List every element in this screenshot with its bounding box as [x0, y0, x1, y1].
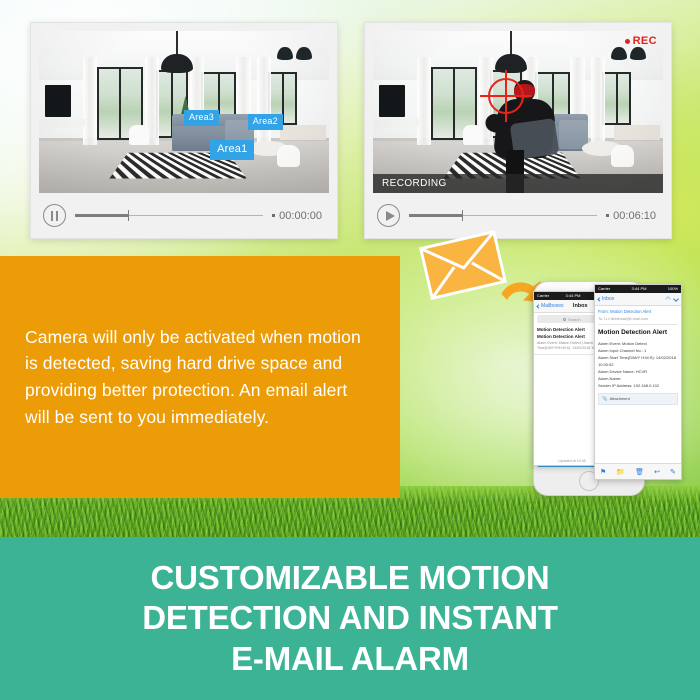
pause-button[interactable]	[43, 204, 66, 227]
recording-status-bar: RECORDING	[373, 174, 663, 193]
alarm-detail-line: Alarm Device Name: HCVR	[598, 368, 678, 375]
seek-bar-live[interactable]	[75, 210, 263, 222]
flag-icon[interactable]: ⚑	[600, 468, 606, 476]
alarm-detail-line: Alarm Event: Motion Detect	[598, 340, 678, 347]
search-icon	[563, 318, 566, 321]
back-to-mailboxes-button[interactable]: Mailboxes	[537, 303, 564, 309]
target-crosshair-icon	[480, 70, 532, 122]
message-to: To: i-i-f-fieldemail@t-mail.com	[598, 316, 678, 322]
page-title: CUSTOMIZABLE MOTION DETECTION AND INSTAN…	[142, 558, 558, 679]
message-from: From: Motion Detection Alert	[598, 309, 678, 316]
chevron-left-icon	[536, 304, 540, 308]
status-carrier: Carrier	[598, 287, 610, 291]
alarm-detail-line: Alarm Input Channel No.: 1	[598, 347, 678, 354]
attachment-row[interactable]: 📎 Attachment	[598, 393, 678, 405]
stop-dot-icon	[606, 214, 609, 217]
search-placeholder: Search	[568, 317, 581, 322]
infographic-stage: Area3 Area2 Area1 00:00:00	[0, 0, 700, 700]
pause-icon	[51, 211, 59, 221]
back-label: Mailboxes	[541, 303, 564, 309]
alarm-detail-line: Sender IP Address: 192.168.0.102	[598, 382, 678, 389]
rec-label: REC	[633, 35, 657, 47]
message-toolbar: ⚑ 📁 🗑 ↩ ✎	[595, 463, 681, 479]
chevron-down-icon[interactable]	[673, 296, 679, 302]
back-to-inbox-button[interactable]: Inbox	[598, 296, 614, 302]
headline-line: E-MAIL ALARM	[142, 639, 558, 679]
play-icon	[386, 211, 395, 221]
attachment-label: Attachment	[610, 396, 630, 401]
compose-icon[interactable]: ✎	[670, 468, 676, 476]
status-carrier: Carrier	[537, 294, 549, 298]
video-player-live-preview[interactable]: Area3 Area2 Area1 00:00:00	[30, 22, 338, 239]
alarm-detail-line: Alarm Name:	[598, 375, 678, 382]
seek-bar-recording[interactable]	[409, 210, 597, 222]
detail-navbar: Inbox	[595, 293, 681, 306]
rec-indicator: REC	[625, 35, 657, 47]
status-time: 3:44 PM	[632, 287, 647, 291]
player-controls-live: 00:00:00	[39, 193, 329, 238]
video-screen-live: Area3 Area2 Area1	[39, 31, 329, 193]
timestamp-value: 00:00:00	[279, 210, 322, 222]
play-button[interactable]	[377, 204, 400, 227]
status-time: 3:44 PM	[566, 294, 581, 298]
back-label: Inbox	[602, 296, 614, 302]
headline-banner: CUSTOMIZABLE MOTION DETECTION AND INSTAN…	[0, 537, 700, 700]
timestamp-live: 00:00:00	[272, 210, 325, 222]
trash-icon[interactable]: 🗑	[635, 468, 644, 476]
player-controls-recording: 00:06:10	[373, 193, 663, 238]
timestamp-value: 00:06:10	[613, 210, 656, 222]
divider	[598, 324, 678, 325]
stop-dot-icon	[272, 214, 275, 217]
video-screen-recording: REC RECORDING	[373, 31, 663, 193]
inbox-title: Inbox	[573, 303, 588, 309]
chevron-up-icon[interactable]	[665, 296, 671, 302]
message-title: Motion Detection Alert	[598, 328, 678, 338]
recording-status-label: RECORDING	[382, 178, 447, 189]
mail-detail-panel[interactable]: Carrier 3:44 PM 100% Inbox From: Motion …	[594, 284, 682, 480]
video-player-recording[interactable]: REC RECORDING 00:06:10	[364, 22, 672, 239]
status-battery: 100%	[668, 287, 678, 291]
timestamp-recording: 00:06:10	[606, 210, 659, 222]
reply-icon[interactable]: ↩	[654, 468, 660, 476]
motion-area-tag[interactable]: Area3	[184, 110, 219, 126]
feature-description-text: Camera will only be activated when motio…	[0, 324, 400, 430]
feature-description-box: Camera will only be activated when motio…	[0, 256, 400, 498]
alarm-detail-line: Alarm Start Time(D/M/Y H:M:S): 14/02/201…	[598, 354, 678, 368]
motion-area-tag[interactable]: Area2	[248, 114, 283, 130]
folder-icon[interactable]: 📁	[616, 468, 625, 476]
rec-dot-icon	[625, 39, 630, 44]
chevron-left-icon	[597, 297, 601, 301]
motion-area-tag[interactable]: Area1	[210, 140, 254, 160]
message-body: From: Motion Detection Alert To: i-i-f-f…	[595, 306, 681, 463]
status-bar: Carrier 3:44 PM 100%	[595, 285, 681, 293]
headline-line: DETECTION AND INSTANT	[142, 598, 558, 638]
headline-line: CUSTOMIZABLE MOTION	[142, 558, 558, 598]
paperclip-icon: 📎	[602, 396, 608, 402]
